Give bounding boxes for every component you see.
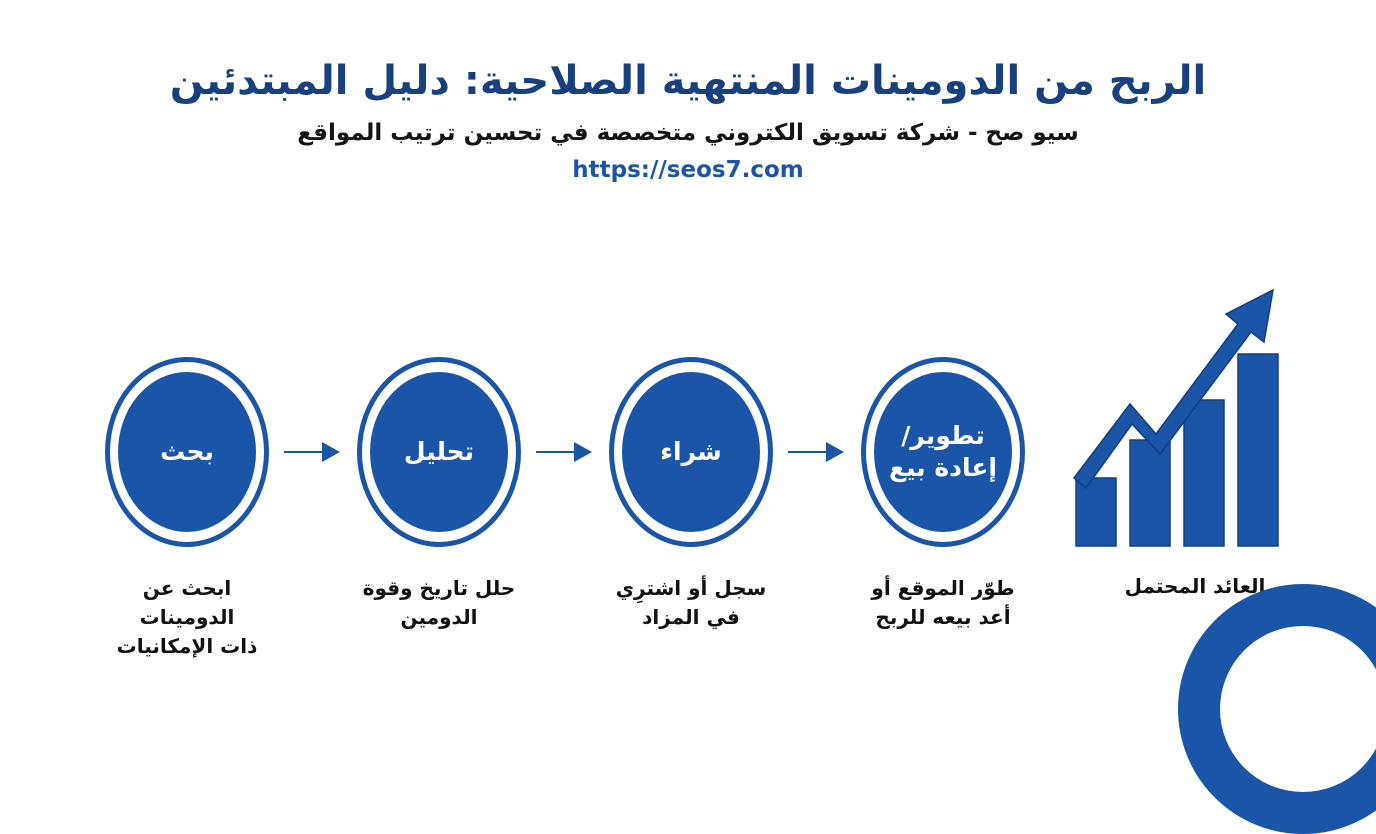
process-flow: تطوير/ إعادة بيع شراء تحليل بحث bbox=[78, 352, 1038, 552]
flow-step-label: بحث bbox=[122, 436, 252, 469]
bar-2 bbox=[1130, 440, 1170, 546]
arrow-right-icon bbox=[282, 432, 344, 472]
caption-analyze: حلل تاريخ وقوة الدومين bbox=[344, 574, 534, 632]
page-title: الربح من الدومينات المنتهية الصلاحية: دل… bbox=[43, 58, 1333, 105]
flow-step-buy[interactable]: شراء bbox=[596, 354, 786, 550]
bar-4 bbox=[1238, 354, 1278, 546]
flow-step-label: تطوير/ إعادة بيع bbox=[878, 420, 1008, 485]
flow-step-research[interactable]: بحث bbox=[92, 354, 282, 550]
flow-step-label: شراء bbox=[626, 436, 756, 469]
subtitle: سيو صح - شركة تسويق الكتروني متخصصة في ت… bbox=[0, 119, 1376, 149]
caption-develop: طوّر الموقع أو أعد بيعه للربح bbox=[848, 574, 1038, 632]
arrow-right-icon bbox=[786, 432, 848, 472]
bar-3 bbox=[1184, 400, 1224, 546]
flow-step-develop[interactable]: تطوير/ إعادة بيع bbox=[848, 354, 1038, 550]
caption-buy: سجل أو اشترِي في المزاد bbox=[596, 574, 786, 632]
flow-step-analyze[interactable]: تحليل bbox=[344, 354, 534, 550]
growth-chart-icon bbox=[1068, 282, 1318, 550]
arrow-right-icon bbox=[534, 432, 596, 472]
flow-captions: طوّر الموقع أو أعد بيعه للربح سجل أو اشت… bbox=[78, 574, 1038, 661]
caption-research: ابحث عن الدومينات ذات الإمكانيات bbox=[92, 574, 282, 661]
decorative-ring-arc bbox=[1178, 584, 1376, 834]
bar-1 bbox=[1076, 478, 1116, 546]
header: الربح من الدومينات المنتهية الصلاحية: دل… bbox=[0, 58, 1376, 183]
flow-step-label: تحليل bbox=[374, 436, 504, 469]
site-url[interactable]: https://seos7.com bbox=[0, 157, 1376, 183]
